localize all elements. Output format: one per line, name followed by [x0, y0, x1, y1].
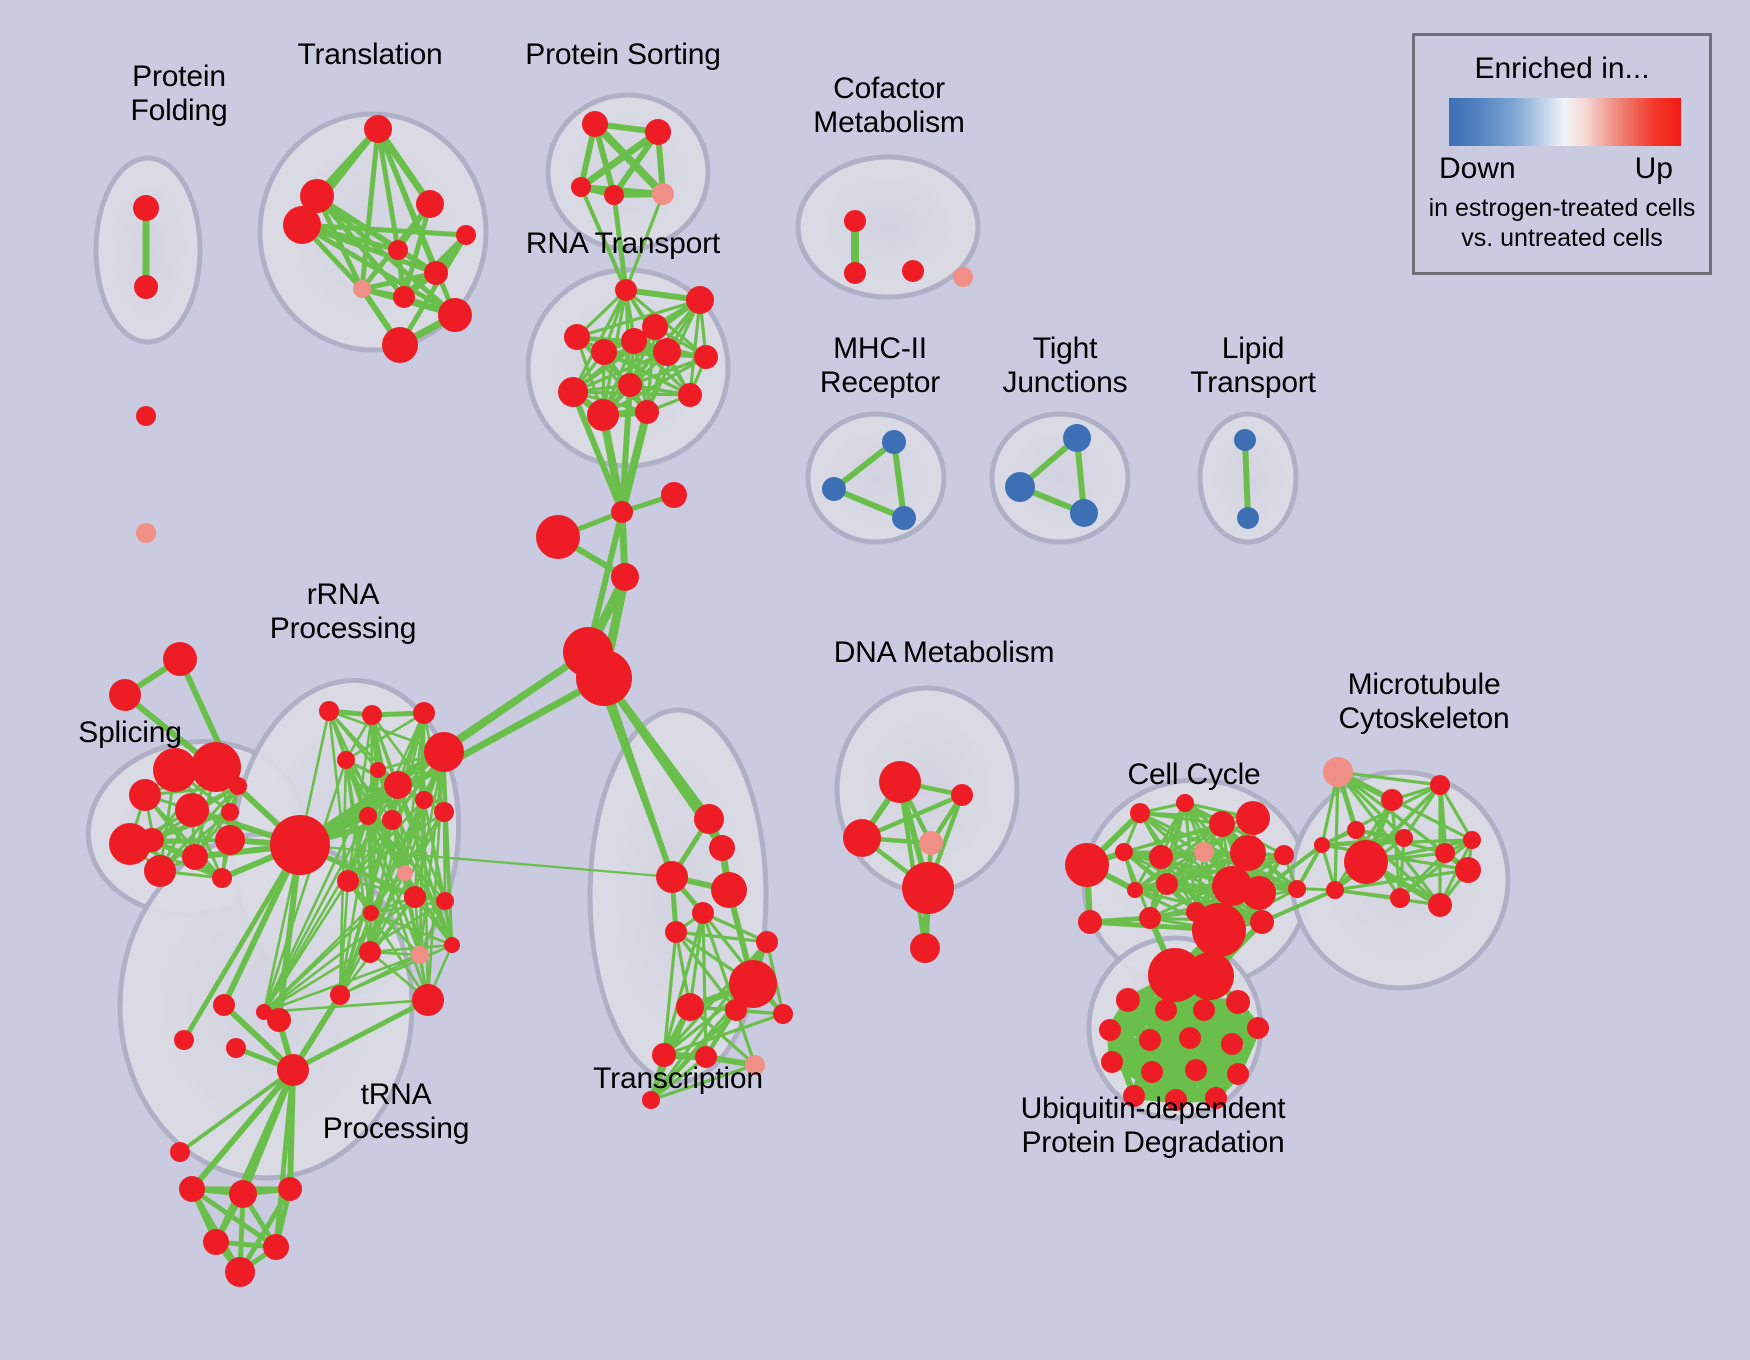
- network-node: [404, 886, 426, 908]
- network-node: [615, 279, 637, 301]
- network-node: [411, 946, 429, 964]
- network-node: [910, 933, 940, 963]
- network-node: [438, 298, 472, 332]
- network-node: [388, 240, 408, 260]
- network-node: [1065, 843, 1109, 887]
- network-node: [1226, 990, 1250, 1014]
- network-node: [136, 523, 156, 543]
- network-node: [843, 819, 881, 857]
- cluster-hull-dna-metabolism: [837, 688, 1017, 892]
- network-node: [645, 119, 671, 145]
- network-node: [1381, 789, 1403, 811]
- network-node: [319, 701, 339, 721]
- network-node: [1130, 803, 1150, 823]
- network-node: [413, 702, 435, 724]
- network-node: [1463, 831, 1481, 849]
- network-node: [711, 872, 747, 908]
- network-node: [621, 328, 647, 354]
- network-node: [1176, 794, 1194, 812]
- cluster-label-protein-sorting: Protein Sorting: [500, 38, 746, 72]
- cluster-label-mhc-ii-receptor: MHC-IIReceptor: [790, 332, 970, 399]
- network-node: [919, 831, 943, 855]
- network-node: [882, 430, 906, 454]
- network-node: [175, 793, 209, 827]
- network-node: [1430, 775, 1450, 795]
- network-node: [536, 515, 580, 559]
- network-node: [576, 650, 632, 706]
- legend-title: Enriched in...: [1415, 52, 1709, 86]
- network-node: [571, 177, 591, 197]
- network-node: [109, 823, 151, 865]
- legend-subtitle: in estrogen-treated cellsvs. untreated c…: [1415, 194, 1709, 253]
- cluster-label-cell-cycle: Cell Cycle: [1108, 758, 1280, 792]
- network-node: [558, 377, 588, 407]
- network-node: [604, 185, 624, 205]
- network-node: [144, 855, 176, 887]
- network-node: [1139, 907, 1161, 929]
- network-node: [182, 844, 208, 870]
- network-node: [822, 477, 846, 501]
- legend-up-label: Up: [1635, 152, 1673, 186]
- network-node: [456, 225, 476, 245]
- cluster-label-rna-transport: RNA Transport: [503, 227, 743, 261]
- network-node: [582, 111, 608, 137]
- network-node: [564, 324, 590, 350]
- network-node: [1099, 1019, 1121, 1041]
- network-node: [653, 338, 681, 366]
- network-node: [1127, 882, 1143, 898]
- network-node: [1116, 988, 1140, 1012]
- network-node: [129, 779, 161, 811]
- network-node: [221, 803, 239, 821]
- network-node: [694, 345, 718, 369]
- network-node: [1063, 424, 1091, 452]
- network-node: [678, 383, 702, 407]
- network-node: [213, 994, 235, 1016]
- network-node: [694, 804, 724, 834]
- network-node: [709, 835, 735, 861]
- network-node: [179, 1176, 205, 1202]
- network-node: [1242, 876, 1276, 910]
- network-node: [656, 861, 688, 893]
- network-node: [618, 373, 642, 397]
- network-node: [364, 115, 392, 143]
- network-node: [587, 399, 619, 431]
- network-node: [1288, 880, 1306, 898]
- network-node: [1185, 1059, 1207, 1081]
- network-node: [1227, 1063, 1249, 1085]
- network-node: [1435, 843, 1455, 863]
- cluster-label-dna-metabolism: DNA Metabolism: [820, 636, 1068, 670]
- network-node: [134, 275, 158, 299]
- network-node: [591, 339, 617, 365]
- network-node: [434, 802, 454, 822]
- network-node: [1070, 499, 1098, 527]
- network-node: [384, 771, 412, 799]
- network-node: [1078, 910, 1102, 934]
- network-node: [951, 784, 973, 806]
- network-node: [692, 902, 714, 924]
- network-node: [661, 482, 687, 508]
- legend-down-label: Down: [1439, 152, 1516, 186]
- cluster-label-cofactor-metabolism: CofactorMetabolism: [790, 72, 988, 139]
- network-node: [229, 1180, 257, 1208]
- network-node: [1141, 1061, 1163, 1083]
- network-node: [611, 501, 633, 523]
- network-node: [1101, 1051, 1123, 1073]
- network-node: [133, 195, 159, 221]
- network-node: [203, 1229, 229, 1255]
- network-node: [270, 815, 330, 875]
- network-node: [1428, 893, 1452, 917]
- network-node: [163, 642, 197, 676]
- network-node: [1395, 829, 1413, 847]
- cluster-label-rrna-processing: rRNAProcessing: [248, 578, 438, 645]
- network-edge: [1245, 440, 1248, 518]
- cluster-label-lipid-transport: LipidTransport: [1168, 332, 1338, 399]
- network-node: [1179, 1027, 1201, 1049]
- cluster-label-ubiquitin-protein-degradation: Ubiquitin-dependentProtein Degradation: [988, 1092, 1318, 1159]
- network-node: [362, 705, 382, 725]
- network-node: [436, 892, 454, 910]
- network-node: [1155, 999, 1177, 1021]
- network-node: [359, 941, 381, 963]
- network-node: [1237, 507, 1259, 529]
- network-node: [1156, 873, 1178, 895]
- network-node: [1194, 842, 1214, 862]
- network-node: [225, 1257, 255, 1287]
- network-node: [215, 825, 245, 855]
- network-node: [1247, 1017, 1269, 1039]
- network-node: [1115, 843, 1133, 861]
- network-node: [393, 286, 415, 308]
- legend-panel: Enriched in... Down Up in estrogen-treat…: [1412, 33, 1712, 275]
- network-node: [729, 960, 777, 1008]
- network-node: [1455, 857, 1481, 883]
- network-node: [337, 751, 355, 769]
- network-node: [892, 506, 916, 530]
- network-node: [652, 183, 674, 205]
- network-node: [1193, 999, 1215, 1021]
- network-node: [611, 563, 639, 591]
- network-node: [1274, 845, 1294, 865]
- cluster-label-splicing: Splicing: [55, 716, 205, 750]
- network-node: [263, 1234, 289, 1260]
- network-node: [424, 261, 448, 285]
- network-node: [397, 865, 413, 881]
- network-node: [382, 810, 402, 830]
- network-node: [1323, 757, 1353, 787]
- network-figure: ProteinFoldingTranslationProtein Sorting…: [0, 0, 1750, 1360]
- network-node: [773, 1004, 793, 1024]
- network-node: [1209, 811, 1235, 837]
- legend-colorbar: [1449, 98, 1681, 146]
- cluster-label-tight-junctions: TightJunctions: [980, 332, 1150, 399]
- network-node: [278, 1177, 302, 1201]
- cluster-label-translation: Translation: [270, 38, 470, 72]
- cluster-label-microtubule-cytoskeleton: MicrotubuleCytoskeleton: [1310, 668, 1538, 735]
- network-node: [283, 206, 321, 244]
- network-node: [412, 984, 444, 1016]
- network-node: [1347, 821, 1365, 839]
- network-node: [635, 400, 659, 424]
- network-node: [1005, 472, 1035, 502]
- network-node: [267, 1008, 291, 1032]
- network-node: [1326, 881, 1344, 899]
- network-node: [337, 870, 359, 892]
- network-node: [1139, 1029, 1161, 1051]
- network-node: [1234, 429, 1256, 451]
- cluster-label-protein-folding: ProteinFolding: [84, 60, 274, 127]
- network-node: [1221, 1033, 1243, 1055]
- network-node: [676, 993, 704, 1021]
- network-node: [359, 807, 377, 825]
- network-node: [756, 931, 778, 953]
- network-node: [363, 905, 379, 921]
- network-node: [153, 748, 197, 792]
- network-node: [902, 260, 924, 282]
- network-node: [1192, 903, 1246, 957]
- network-node: [1250, 910, 1274, 934]
- network-node: [879, 761, 921, 803]
- network-node: [1390, 888, 1410, 908]
- network-node: [844, 210, 866, 232]
- network-node: [1236, 801, 1270, 835]
- cluster-label-transcription: Transcription: [578, 1062, 778, 1096]
- network-node: [1230, 835, 1266, 871]
- network-node: [170, 1142, 190, 1162]
- network-node: [109, 679, 141, 711]
- network-node: [330, 985, 350, 1005]
- network-node: [353, 280, 371, 298]
- network-node: [424, 732, 464, 772]
- network-node: [370, 762, 386, 778]
- network-node: [1149, 845, 1173, 869]
- network-node: [382, 327, 418, 363]
- network-node: [416, 190, 444, 218]
- network-node: [844, 262, 866, 284]
- network-node: [1344, 840, 1388, 884]
- network-node: [902, 862, 954, 914]
- network-node: [686, 286, 714, 314]
- network-node: [953, 267, 973, 287]
- cluster-hull-mhc-ii-receptor: [808, 414, 944, 542]
- network-node: [136, 406, 156, 426]
- network-node: [415, 791, 433, 809]
- network-node: [226, 1038, 246, 1058]
- cluster-label-trna-processing: tRNAProcessing: [305, 1078, 487, 1145]
- network-node: [1314, 837, 1330, 853]
- network-node: [174, 1030, 194, 1050]
- network-node: [1186, 952, 1234, 1000]
- network-node: [444, 937, 460, 953]
- network-node: [212, 868, 232, 888]
- cluster-hull-cofactor-metabolism: [798, 157, 978, 297]
- network-node: [665, 921, 687, 943]
